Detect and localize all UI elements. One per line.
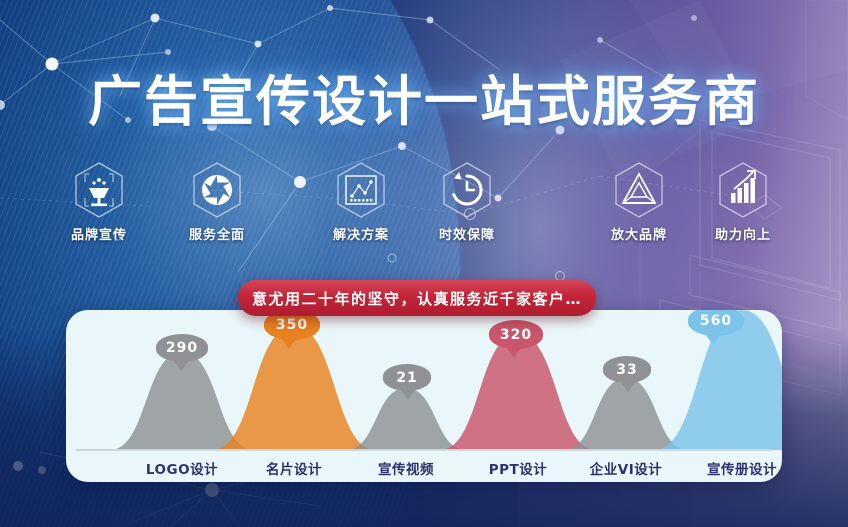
feature-item-timeliness[interactable]: 时效保障	[424, 160, 510, 243]
value-bubble: 320	[489, 320, 543, 349]
bar-chart-arrow-up-icon	[715, 160, 771, 220]
camera-aperture-icon	[189, 160, 245, 220]
poster-canvas: 广告宣传设计一站式服务商 品牌宣传	[0, 0, 848, 527]
bubble-tail	[282, 339, 296, 349]
category-label: 企业VI设计	[566, 458, 686, 478]
feature-label: 时效保障	[424, 224, 510, 243]
category-label: 宣传视频	[346, 458, 466, 478]
feature-icon-row: 品牌宣传 服务全面	[0, 160, 848, 250]
feature-item-solution[interactable]: 解决方案	[318, 160, 404, 243]
tagline-banner: 意尤用二十年的坚守，认真服务近千家客户…	[238, 280, 596, 316]
chart-panel: LOGO设计名片设计宣传视频PPT设计企业VI设计宣传册设计 290350213…	[66, 310, 782, 482]
category-label: PPT设计	[458, 458, 578, 478]
feature-item-service[interactable]: 服务全面	[174, 160, 260, 243]
chart-network-icon	[333, 160, 389, 220]
bubble-tail	[401, 390, 415, 400]
category-label: 宣传册设计	[682, 458, 782, 478]
feature-item-brand[interactable]: 品牌宣传	[56, 160, 142, 243]
bubble-tail	[174, 361, 188, 371]
bubble-tail	[621, 382, 635, 392]
category-label: LOGO设计	[122, 458, 242, 478]
value-bubble: 33	[603, 356, 651, 383]
megaphone-broadcast-icon	[71, 160, 127, 220]
category-label: 名片设计	[234, 458, 354, 478]
feature-label: 解决方案	[318, 224, 404, 243]
feature-label: 助力向上	[700, 224, 786, 243]
page-title: 广告宣传设计一站式服务商	[0, 57, 848, 136]
clock-history-icon	[439, 160, 495, 220]
bubble-tail	[706, 335, 720, 345]
feature-label: 品牌宣传	[56, 224, 142, 243]
value-bubble: 290	[156, 334, 208, 362]
feature-item-growth[interactable]: 助力向上	[700, 160, 786, 243]
feature-item-amplify[interactable]: 放大品牌	[596, 160, 682, 243]
pyramid-triangle-icon	[611, 160, 667, 220]
value-bubble: 21	[383, 364, 431, 391]
feature-label: 服务全面	[174, 224, 260, 243]
feature-label: 放大品牌	[596, 224, 682, 243]
bubble-tail	[507, 348, 521, 358]
chart-category-labels: LOGO设计名片设计宣传视频PPT设计企业VI设计宣传册设计	[66, 451, 782, 482]
